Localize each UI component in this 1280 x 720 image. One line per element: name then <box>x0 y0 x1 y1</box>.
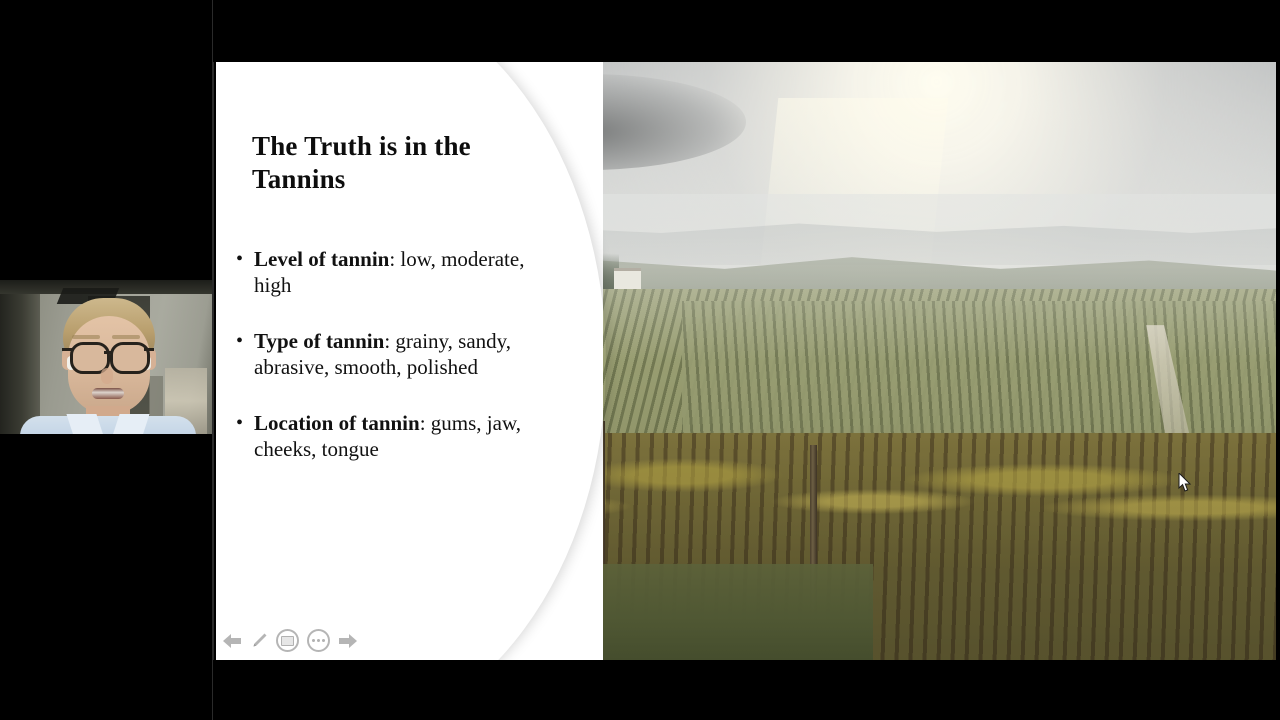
glasses-temple-right <box>144 348 154 351</box>
bullet-lead: Type of tannin <box>254 329 384 353</box>
letterbox-right <box>1276 0 1280 720</box>
more-options-ring <box>307 629 330 652</box>
more-options-icon[interactable] <box>307 629 330 652</box>
letterbox-bottom <box>213 660 1280 720</box>
slide-view-icon[interactable] <box>276 629 299 652</box>
glasses-bridge <box>104 351 112 354</box>
screen-share-stage: The Truth is in the Tannins • Level of t… <box>0 0 1280 720</box>
slide-view-ring <box>276 629 299 652</box>
bullet-lead: Level of tannin <box>254 247 389 271</box>
speaker-webcam-tile[interactable] <box>0 280 213 434</box>
slide-bullet-list: • Level of tannin: low, moderate, high •… <box>236 246 548 492</box>
speaker-mouth <box>92 388 124 399</box>
webcam-column <box>0 0 213 720</box>
pen-tool-icon[interactable] <box>250 632 268 650</box>
letterbox-top <box>213 0 1280 62</box>
bullet-marker-icon: • <box>236 328 254 380</box>
speaker-eyebrow-left <box>72 335 100 339</box>
glasses-lens-right <box>110 342 150 374</box>
list-item: • Location of tannin: gums, jaw, cheeks,… <box>236 410 548 462</box>
glasses-temple-left <box>62 348 72 351</box>
shirt-collar-right <box>112 414 149 434</box>
mini-screen-glyph <box>281 636 294 646</box>
column-divider <box>212 0 214 720</box>
shared-slide-area[interactable]: The Truth is in the Tannins • Level of t… <box>216 62 1276 660</box>
bullet-lead: Location of tannin <box>254 411 420 435</box>
speaker-shirt <box>20 416 196 434</box>
bullet-marker-icon: • <box>236 246 254 298</box>
speaker-nose <box>101 368 113 384</box>
mouse-cursor-icon <box>1178 473 1192 493</box>
list-item: • Type of tannin: grainy, sandy, abrasiv… <box>236 328 548 380</box>
next-slide-arrow-icon[interactable] <box>338 633 358 649</box>
presentation-toolbar[interactable] <box>220 629 358 652</box>
webcam-dark-left-area <box>0 280 40 434</box>
speaker-eyebrow-right <box>112 335 140 339</box>
previous-slide-arrow-icon[interactable] <box>222 633 242 649</box>
three-dots-glyph <box>312 639 325 642</box>
list-item: • Level of tannin: low, moderate, high <box>236 246 548 298</box>
slide-title: The Truth is in the Tannins <box>252 130 520 196</box>
bullet-marker-icon: • <box>236 410 254 462</box>
slide-text-content: The Truth is in the Tannins • Level of t… <box>216 62 546 660</box>
